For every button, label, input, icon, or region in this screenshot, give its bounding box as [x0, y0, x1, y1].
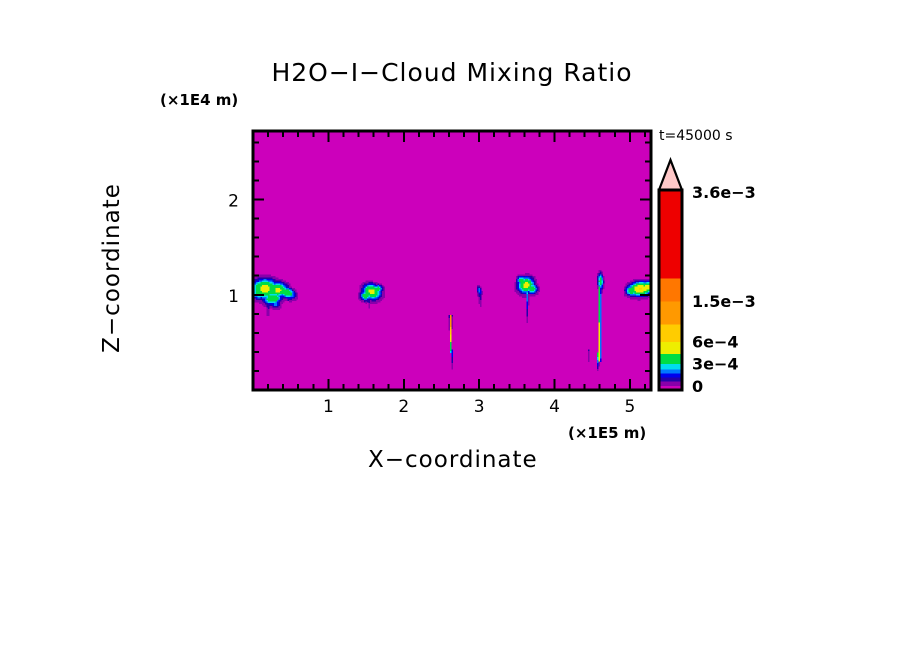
- colorbar-label-1: 1.5e−3: [692, 292, 756, 311]
- x-tick-label-4: 4: [549, 397, 560, 417]
- y-tick-label-1: 1: [228, 287, 239, 307]
- x-tick-label-2: 2: [398, 397, 409, 417]
- figure-canvas: H2O−I−Cloud Mixing Ratio (×1E4 m) Z−coor…: [0, 0, 904, 654]
- colorbar-label-4: 0: [692, 377, 703, 396]
- x-tick-label-1: 1: [323, 397, 334, 417]
- colorbar-label-0: 3.6e−3: [692, 183, 756, 202]
- plot-area: 12345123.6e−31.5e−36e−43e−40: [0, 0, 904, 654]
- colorbar-label-2: 6e−4: [692, 333, 739, 352]
- x-tick-label-3: 3: [474, 397, 485, 417]
- colorbar-label-3: 3e−4: [692, 355, 739, 374]
- x-tick-label-5: 5: [624, 397, 635, 417]
- y-tick-label-2: 2: [228, 192, 239, 212]
